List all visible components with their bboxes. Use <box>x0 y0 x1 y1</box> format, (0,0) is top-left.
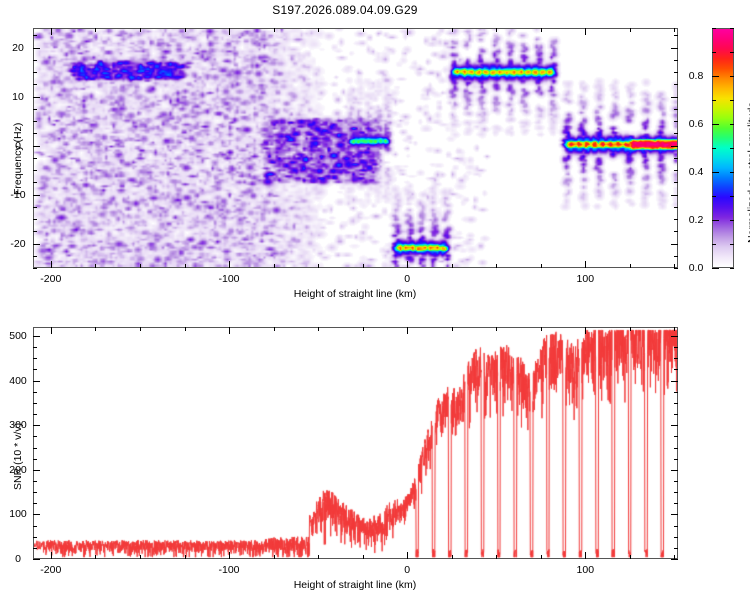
snr-panel <box>33 327 678 559</box>
xtick-label: 100 <box>577 564 595 576</box>
figure-title: S197.2026.089.04.09.G29 <box>0 3 690 17</box>
ytick-label: 100 <box>7 508 29 520</box>
colorbar-title: Normalized spectral amplitude <box>746 102 750 243</box>
xtick-label: 0 <box>404 273 410 285</box>
xtick-label: 0 <box>404 564 410 576</box>
snr-yaxis-title: SNR (10 * v/v) <box>12 423 24 490</box>
spectrogram-panel <box>33 28 678 268</box>
ytick-label: 0 <box>7 553 29 565</box>
colorbar-tick-label: 0.6 <box>684 118 708 130</box>
ytick-label: 20 <box>7 42 29 54</box>
ytick-label: 500 <box>7 330 29 342</box>
snr-line-plot <box>34 328 677 558</box>
xtick-label: -100 <box>218 564 239 576</box>
snr-xaxis-title: Height of straight line (km) <box>294 579 417 591</box>
colorbar-tick-label: 0.0 <box>684 262 708 274</box>
spectrogram-image <box>34 29 677 267</box>
colorbar-tick-label: 0.2 <box>684 214 708 226</box>
xtick-label: -200 <box>40 273 61 285</box>
spectrogram-xaxis-title: Height of straight line (km) <box>294 288 417 300</box>
ytick-label: 10 <box>7 91 29 103</box>
ytick-label: 400 <box>7 375 29 387</box>
xtick-label: -100 <box>218 273 239 285</box>
xtick-label: -200 <box>40 564 61 576</box>
figure-root: S197.2026.089.04.09.G29 -200-1000100-20-… <box>0 0 750 600</box>
xtick-label: 100 <box>577 273 595 285</box>
spectrogram-yaxis-title: Frequency (Hz) <box>12 123 24 195</box>
ytick-label: -20 <box>7 238 29 250</box>
colorbar-tick-label: 0.4 <box>684 166 708 178</box>
colorbar-tick-label: 0.8 <box>684 70 708 82</box>
